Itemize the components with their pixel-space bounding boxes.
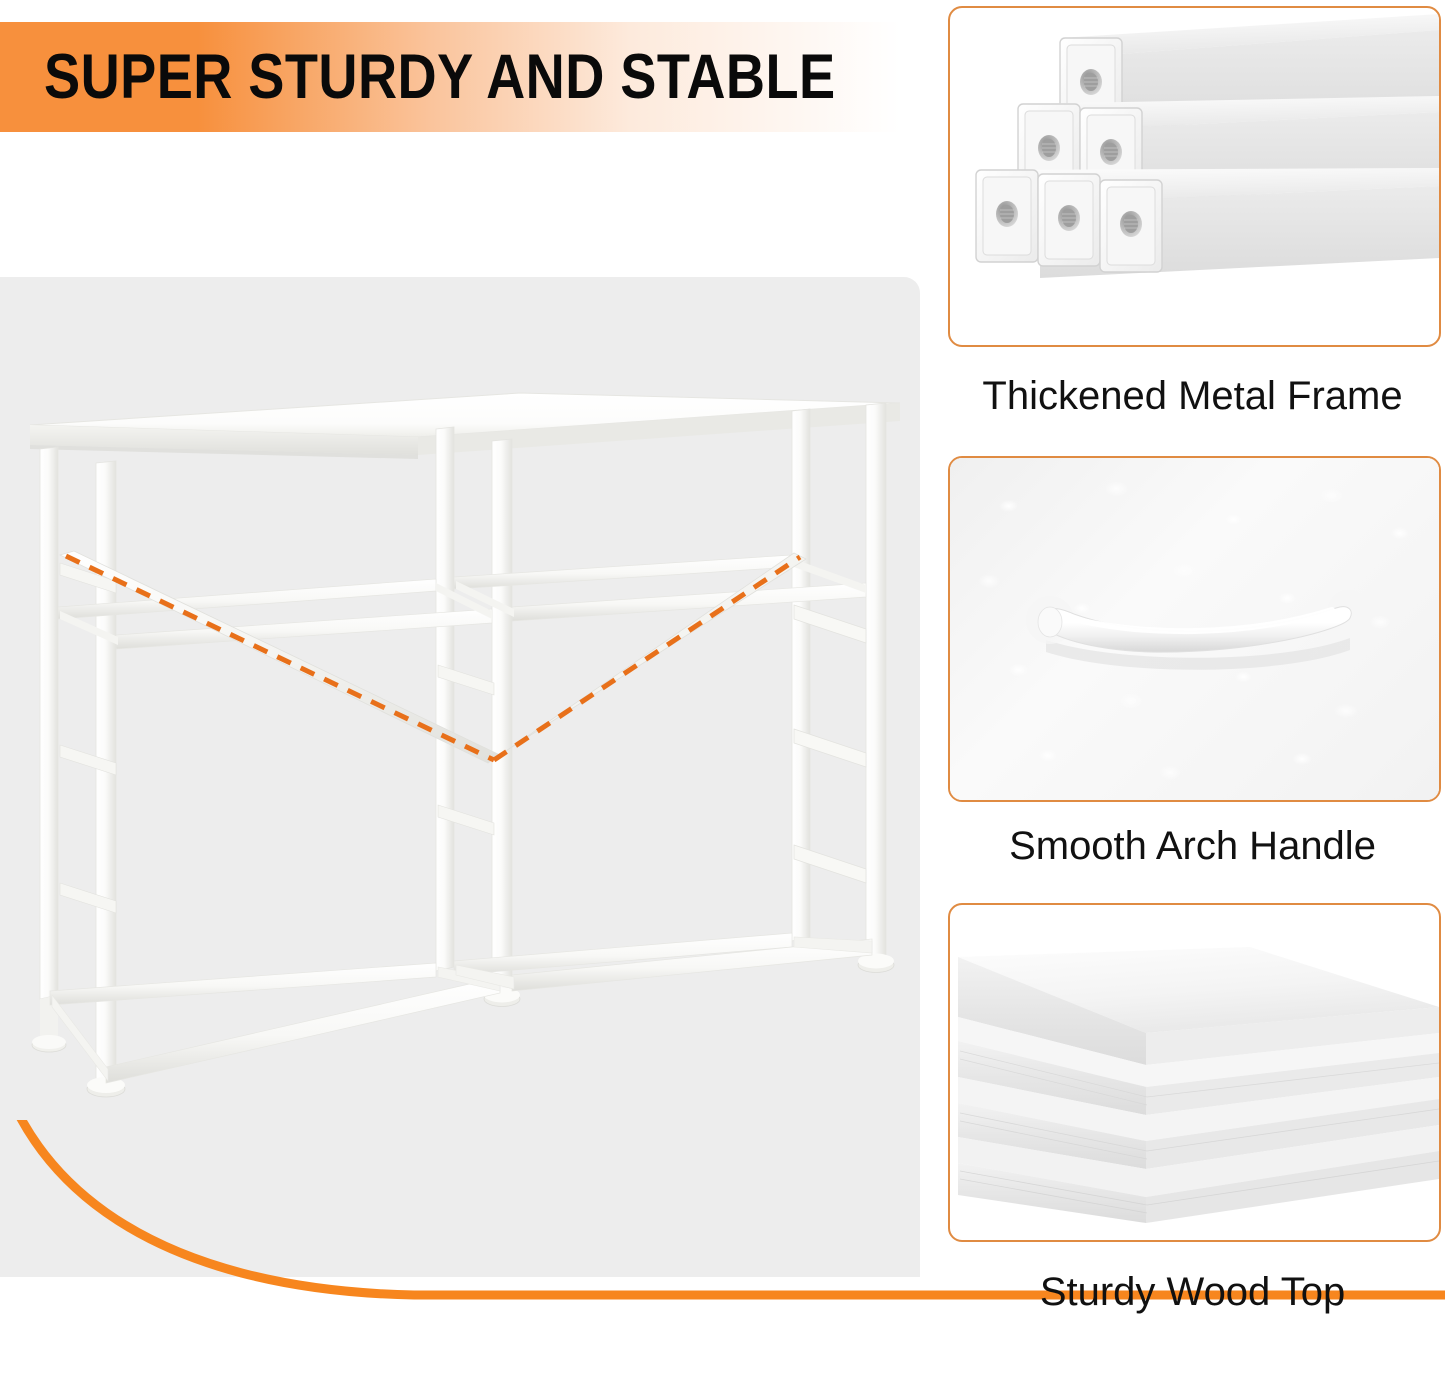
feature-caption-arch-handle: Smooth Arch Handle — [948, 822, 1437, 870]
table-top-panel — [30, 393, 900, 459]
arch-handle-illustration — [950, 458, 1439, 800]
feature-panel-smooth-arch-handle — [948, 456, 1441, 802]
feature-caption-metal-frame: Thickened Metal Frame — [948, 372, 1437, 420]
feature-panel-sturdy-wood-top — [948, 903, 1441, 1242]
post-front-right — [858, 403, 894, 973]
page-title: SUPER STURDY AND STABLE — [44, 42, 836, 112]
feature-panel-thickened-metal-frame — [948, 6, 1441, 347]
metal-tube-bottom — [976, 168, 1439, 278]
bottom-frame-rails — [50, 933, 872, 1083]
stacked-wood-boards-illustration — [950, 905, 1439, 1240]
post-front-center — [484, 439, 520, 1007]
main-product-image — [0, 277, 920, 1277]
stacked-square-metal-tubes-illustration — [950, 8, 1439, 345]
console-table-frame-illustration — [0, 277, 920, 1277]
post-back-center — [436, 427, 454, 971]
feature-caption-wood-top: Sturdy Wood Top — [948, 1268, 1437, 1316]
header-banner: SUPER STURDY AND STABLE — [0, 22, 900, 132]
